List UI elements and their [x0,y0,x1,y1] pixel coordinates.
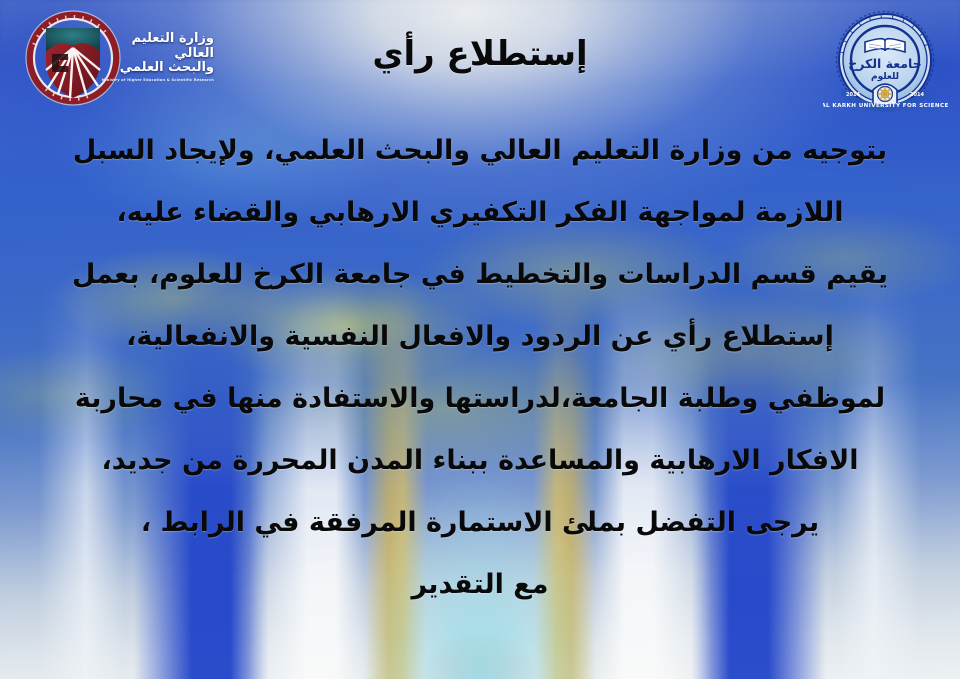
poster-content: إستطلاع رأي بتوجيه من وزارة التعليم العا… [0,0,960,679]
body-line: يقيم قسم الدراسات والتخطيط في جامعة الكر… [0,244,960,306]
body-line: يرجى التفضل بملئ الاستمارة المرفقة في ال… [0,492,960,554]
body-line: الافكار الارهابية والمساعدة ببناء المدن … [0,430,960,492]
body-line: اللازمة لمواجهة الفكر التكفيري الارهابي … [0,182,960,244]
poster-canvas: وزارة التعليم العالي والبحث العلمي Minis… [0,0,960,679]
body-line: بتوجيه من وزارة التعليم العالي والبحث ال… [0,120,960,182]
body-line: إستطلاع رأي عن الردود والافعال النفسية و… [0,306,960,368]
body-line: لموظفي وطلبة الجامعة،لدراستها والاستفادة… [0,368,960,430]
poster-body: بتوجيه من وزارة التعليم العالي والبحث ال… [0,120,960,616]
poster-title: إستطلاع رأي [0,36,960,73]
body-line: مع التقدير [0,554,960,616]
